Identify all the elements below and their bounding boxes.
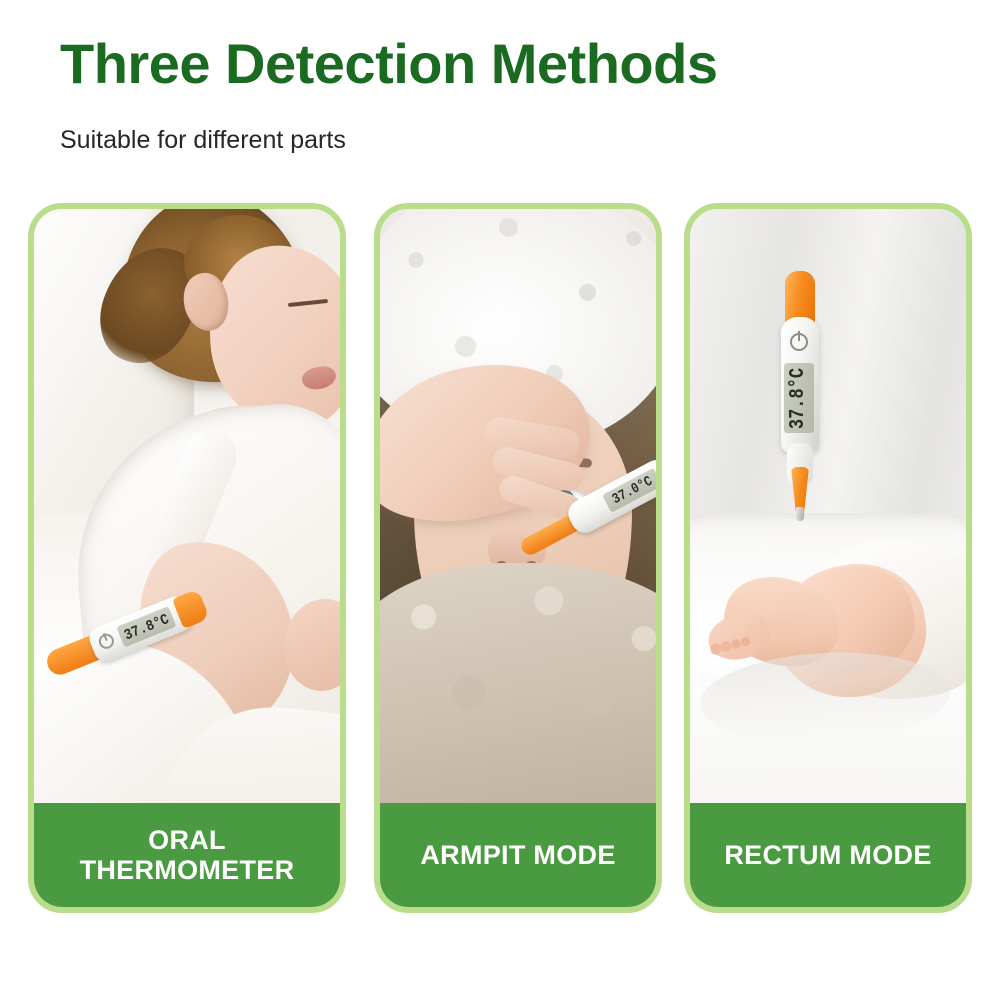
- photo-sleeping-toddler: 37.8°C: [34, 209, 340, 803]
- photo-baby-on-bed: 37.8°C: [690, 209, 966, 803]
- thermometer-probe: [791, 467, 809, 511]
- method-card-armpit[interactable]: 37.0°C ARMPIT MODE: [374, 203, 662, 913]
- card-label-oral: ORAL THERMOMETER: [34, 803, 340, 907]
- card-label-line: ARMPIT MODE: [420, 840, 615, 870]
- card-label-rectum: RECTUM MODE: [690, 803, 966, 907]
- card-label-line: THERMOMETER: [80, 855, 295, 885]
- method-card-oral[interactable]: 37.8°C ORAL THERMOMETER: [28, 203, 346, 913]
- method-card-rectum[interactable]: 37.8°C RECTUM MODE: [684, 203, 972, 913]
- card-label-armpit: ARMPIT MODE: [380, 803, 656, 907]
- thermometer-metal-sensor: [796, 507, 804, 521]
- detection-methods-card-row: 37.8°C ORAL THERMOMETER: [0, 0, 1000, 1000]
- thermometer-reading: 37.8°C: [787, 367, 811, 428]
- photo-sick-girl: 37.0°C: [380, 209, 656, 803]
- thermometer-display: 37.8°C: [784, 363, 814, 433]
- thermometer-icon: 37.8°C: [776, 271, 824, 521]
- card-label-line: RECTUM MODE: [724, 840, 931, 870]
- knitted-scarf-texture: [380, 563, 656, 803]
- card-label-line: ORAL: [80, 825, 295, 855]
- power-button-icon: [790, 333, 808, 351]
